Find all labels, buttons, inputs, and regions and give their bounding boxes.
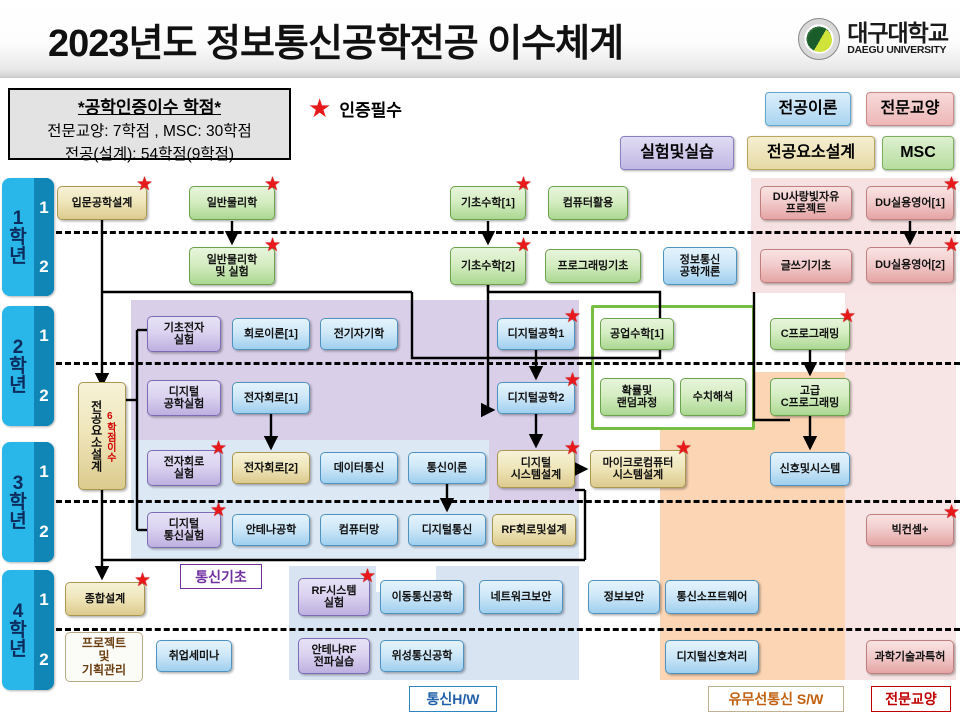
course-box[interactable]: 입문공학설계 — [57, 186, 147, 220]
header-bar: 2023년도 정보통신공학전공 이수체계 대구대학교 DAEGU UNIVERS… — [0, 0, 960, 78]
course-label: 네트워크보안 — [491, 591, 552, 603]
course-label: 통신소프트웨어 — [677, 591, 748, 603]
course-box[interactable]: 디지털 공학실험 — [147, 380, 221, 416]
course-label: 회로이론[1] — [244, 328, 298, 340]
course-box[interactable]: 디지털공학1 — [497, 318, 575, 350]
course-label: 컴퓨터활용 — [563, 197, 614, 209]
course-box[interactable]: DU실용영어[1] — [866, 186, 954, 220]
course-box[interactable]: 취업세미나 — [156, 640, 232, 672]
course-box[interactable]: 위성통신공학 — [380, 640, 464, 672]
credit-line-liberal-msc: 전문교양: 7학점 , MSC: 30학점 — [10, 119, 289, 141]
course-box[interactable]: 네트워크보안 — [479, 580, 563, 614]
course-label: 컴퓨터망 — [339, 524, 379, 536]
course-label: 프로그래밍기초 — [558, 260, 629, 272]
course-box[interactable]: 기초전자 실험 — [147, 316, 221, 352]
credit-line-major: 전공(설계): 54학점(9학점) — [10, 142, 289, 164]
course-box[interactable]: 전기자기학 — [320, 318, 398, 350]
year-block-4: 4학년12 — [2, 570, 54, 690]
course-box[interactable]: 정보통신 공학개론 — [663, 247, 737, 285]
design-track-box: 전공요소설계 6학점이수 — [78, 382, 126, 490]
course-box[interactable]: 전자회로[1] — [232, 382, 310, 414]
semester-column-1: 12 — [34, 178, 54, 296]
course-box[interactable]: 안테나공학 — [232, 514, 310, 546]
semester-3-2: 2 — [34, 502, 54, 562]
legend-chip-theory: 전공이론 — [765, 92, 851, 126]
course-box[interactable]: 전자회로 실험 — [147, 450, 221, 486]
course-box[interactable]: 디지털 시스템설계 — [497, 450, 575, 488]
course-box[interactable]: 회로이론[1] — [232, 318, 310, 350]
course-label: 일반물리학 및 실험 — [207, 254, 258, 279]
star-legend-label: 인증필수 — [339, 96, 402, 121]
course-box[interactable]: 전자회로[2] — [232, 452, 310, 484]
course-label: 정보보안 — [604, 591, 644, 603]
course-label: DU실용영어[1] — [875, 197, 945, 209]
course-box[interactable]: 디지털공학2 — [497, 382, 575, 414]
course-label: 위성통신공학 — [392, 650, 453, 662]
semester-2-2: 2 — [34, 366, 54, 426]
course-box[interactable]: 글쓰기기초 — [760, 249, 852, 283]
course-box[interactable]: 고급 C프로그래밍 — [770, 378, 850, 416]
credit-requirements-box: *공학인증이수 학점* 전문교양: 7학점 , MSC: 30학점 전공(설계)… — [8, 88, 291, 160]
course-box[interactable]: 통신소프트웨어 — [665, 580, 759, 614]
course-label: 확률및 랜덤과정 — [617, 385, 657, 410]
semester-column-3: 12 — [34, 442, 54, 562]
semester-column-4: 12 — [34, 570, 54, 690]
course-label: 고급 C프로그래밍 — [781, 385, 840, 410]
course-box[interactable]: 과학기술과특허 — [866, 640, 954, 674]
daegu-university-seal-icon — [798, 18, 840, 60]
course-label: 기초전자 실험 — [164, 322, 204, 347]
year-block-2: 2학년12 — [2, 306, 54, 426]
group-label: 통신기초 — [180, 564, 262, 589]
course-label: 프로젝트 및 기획관리 — [82, 637, 126, 677]
course-label: 이동통신공학 — [392, 591, 453, 603]
legend-chip-design: 전공요소설계 — [747, 136, 875, 170]
university-logo: 대구대학교 DAEGU UNIVERSITY — [798, 18, 948, 60]
course-label: 마이크로컴퓨터 시스템설계 — [603, 457, 674, 482]
course-box[interactable]: 안테나RF 전파실습 — [298, 638, 370, 674]
course-label: 기초수학[2] — [461, 260, 515, 272]
course-box[interactable]: 기초수학[1] — [450, 186, 526, 220]
course-box[interactable]: 종합설계 — [65, 582, 145, 616]
semester-1-2: 2 — [34, 237, 54, 296]
course-label: C프로그래밍 — [781, 328, 840, 340]
group-label: 유무선통신 S/W — [708, 686, 844, 712]
course-label: 수치해석 — [693, 391, 733, 403]
course-box[interactable]: 기초수학[2] — [450, 247, 526, 285]
year-block-1: 1학년12 — [2, 178, 54, 296]
semester-divider-3 — [56, 500, 960, 503]
course-box[interactable]: 이동통신공학 — [380, 580, 464, 614]
logo-name-en: DAEGU UNIVERSITY — [847, 45, 948, 56]
course-box[interactable]: 데이터통신 — [320, 452, 398, 484]
course-label: 안테나공학 — [246, 524, 297, 536]
course-box[interactable]: 신호및시스템 — [770, 452, 850, 486]
course-box[interactable]: 정보보안 — [588, 580, 660, 614]
year-number-4: 4학년 — [2, 570, 34, 690]
course-label: 신호및시스템 — [780, 463, 841, 475]
curriculum-diagram: 2023년도 정보통신공학전공 이수체계 대구대학교 DAEGU UNIVERS… — [0, 0, 960, 720]
course-label: 종합설계 — [85, 593, 125, 605]
course-label: 디지털 통신실험 — [164, 518, 204, 543]
course-label: 디지털공학2 — [508, 392, 565, 404]
semester-1-1: 1 — [34, 178, 54, 237]
legend-chip-liberal: 전문교양 — [866, 92, 954, 126]
course-box[interactable]: DU사랑빛자유 프로젝트 — [760, 186, 852, 220]
semester-column-2: 12 — [34, 306, 54, 426]
course-label: 기초수학[1] — [461, 197, 515, 209]
red-star-icon: ★ — [308, 95, 331, 121]
course-label: 디지털통신 — [422, 524, 473, 536]
course-label: 디지털 시스템설계 — [511, 457, 562, 482]
credit-title: *공학인증이수 학점* — [10, 93, 289, 118]
course-label: 전자회로 실험 — [164, 456, 204, 481]
course-label: 통신이론 — [427, 462, 467, 474]
course-label: RF시스템 실험 — [311, 585, 356, 610]
course-box[interactable]: 디지털신호처리 — [665, 640, 759, 674]
year-number-2: 2학년 — [2, 306, 34, 426]
course-label: 데이터통신 — [334, 462, 385, 474]
course-box[interactable]: 확률및 랜덤과정 — [600, 378, 674, 416]
group-label: 통신H/W — [409, 686, 497, 712]
region-white-mask-c — [579, 616, 660, 680]
group-label: 전문교양 — [871, 686, 951, 712]
course-box[interactable]: 컴퓨터망 — [320, 514, 398, 546]
course-box[interactable]: 디지털통신 — [408, 514, 486, 546]
course-box[interactable]: C프로그래밍 — [770, 318, 850, 350]
semester-3-1: 1 — [34, 442, 54, 502]
course-box[interactable]: 빅컨셈+ — [866, 514, 954, 546]
course-box[interactable]: 마이크로컴퓨터 시스템설계 — [590, 450, 686, 488]
course-label: 입문공학설계 — [72, 197, 133, 209]
course-label: 글쓰기기초 — [781, 260, 832, 272]
course-label: 디지털 공학실험 — [164, 386, 204, 411]
course-box[interactable]: RF시스템 실험 — [298, 578, 370, 616]
course-label: 취업세미나 — [169, 650, 220, 662]
legend-chip-msc: MSC — [882, 136, 954, 170]
course-label: DU사랑빛자유 프로젝트 — [773, 191, 840, 216]
course-box[interactable]: 통신이론 — [408, 452, 486, 484]
course-box[interactable]: 프로젝트 및 기획관리 — [65, 632, 143, 682]
semester-divider-1 — [56, 231, 960, 234]
course-label: 일반물리학 — [207, 197, 258, 209]
year-number-3: 3학년 — [2, 442, 34, 562]
course-box[interactable]: RF회로및설계 — [492, 514, 576, 546]
course-label: 전기자기학 — [334, 328, 385, 340]
course-label: 과학기술과특허 — [875, 651, 946, 663]
semester-divider-2 — [56, 362, 960, 365]
semester-2-1: 1 — [34, 306, 54, 366]
course-label: 공업수학[1] — [610, 328, 664, 340]
course-label: DU실용영어[2] — [875, 259, 945, 271]
star-legend: ★ 인증필수 — [308, 95, 402, 121]
course-box[interactable]: 일반물리학 및 실험 — [189, 247, 275, 285]
course-label: 정보통신 공학개론 — [680, 254, 720, 279]
page-title: 2023년도 정보통신공학전공 이수체계 — [48, 12, 623, 67]
course-box[interactable]: 디지털 통신실험 — [147, 512, 221, 548]
logo-name-ko: 대구대학교 — [847, 22, 948, 45]
course-label: 디지털공학1 — [508, 328, 565, 340]
course-label: 디지털신호처리 — [677, 651, 748, 663]
course-label: 전자회로[2] — [244, 462, 298, 474]
course-box[interactable]: 컴퓨터활용 — [548, 186, 628, 220]
course-label: 전자회로[1] — [244, 392, 298, 404]
course-box[interactable]: DU실용영어[2] — [866, 247, 954, 283]
year-block-3: 3학년12 — [2, 442, 54, 562]
course-label: 안테나RF 전파실습 — [311, 644, 356, 669]
semester-4-2: 2 — [34, 630, 54, 690]
legend-chip-lab: 실험및실습 — [620, 136, 734, 170]
region-liberal-right — [845, 293, 956, 680]
design-track-label: 전공요소설계 — [89, 400, 102, 472]
year-number-1: 1학년 — [2, 178, 34, 296]
design-track-note: 6학점이수 — [104, 411, 115, 462]
course-box[interactable]: 프로그래밍기초 — [545, 249, 641, 283]
course-label: RF회로및설계 — [501, 524, 566, 536]
course-box[interactable]: 일반물리학 — [189, 186, 275, 220]
course-box[interactable]: 공업수학[1] — [600, 318, 674, 350]
semester-divider-4 — [56, 628, 960, 631]
course-label: 빅컨셈+ — [892, 524, 929, 536]
semester-4-1: 1 — [34, 570, 54, 630]
course-box[interactable]: 수치해석 — [680, 378, 746, 416]
